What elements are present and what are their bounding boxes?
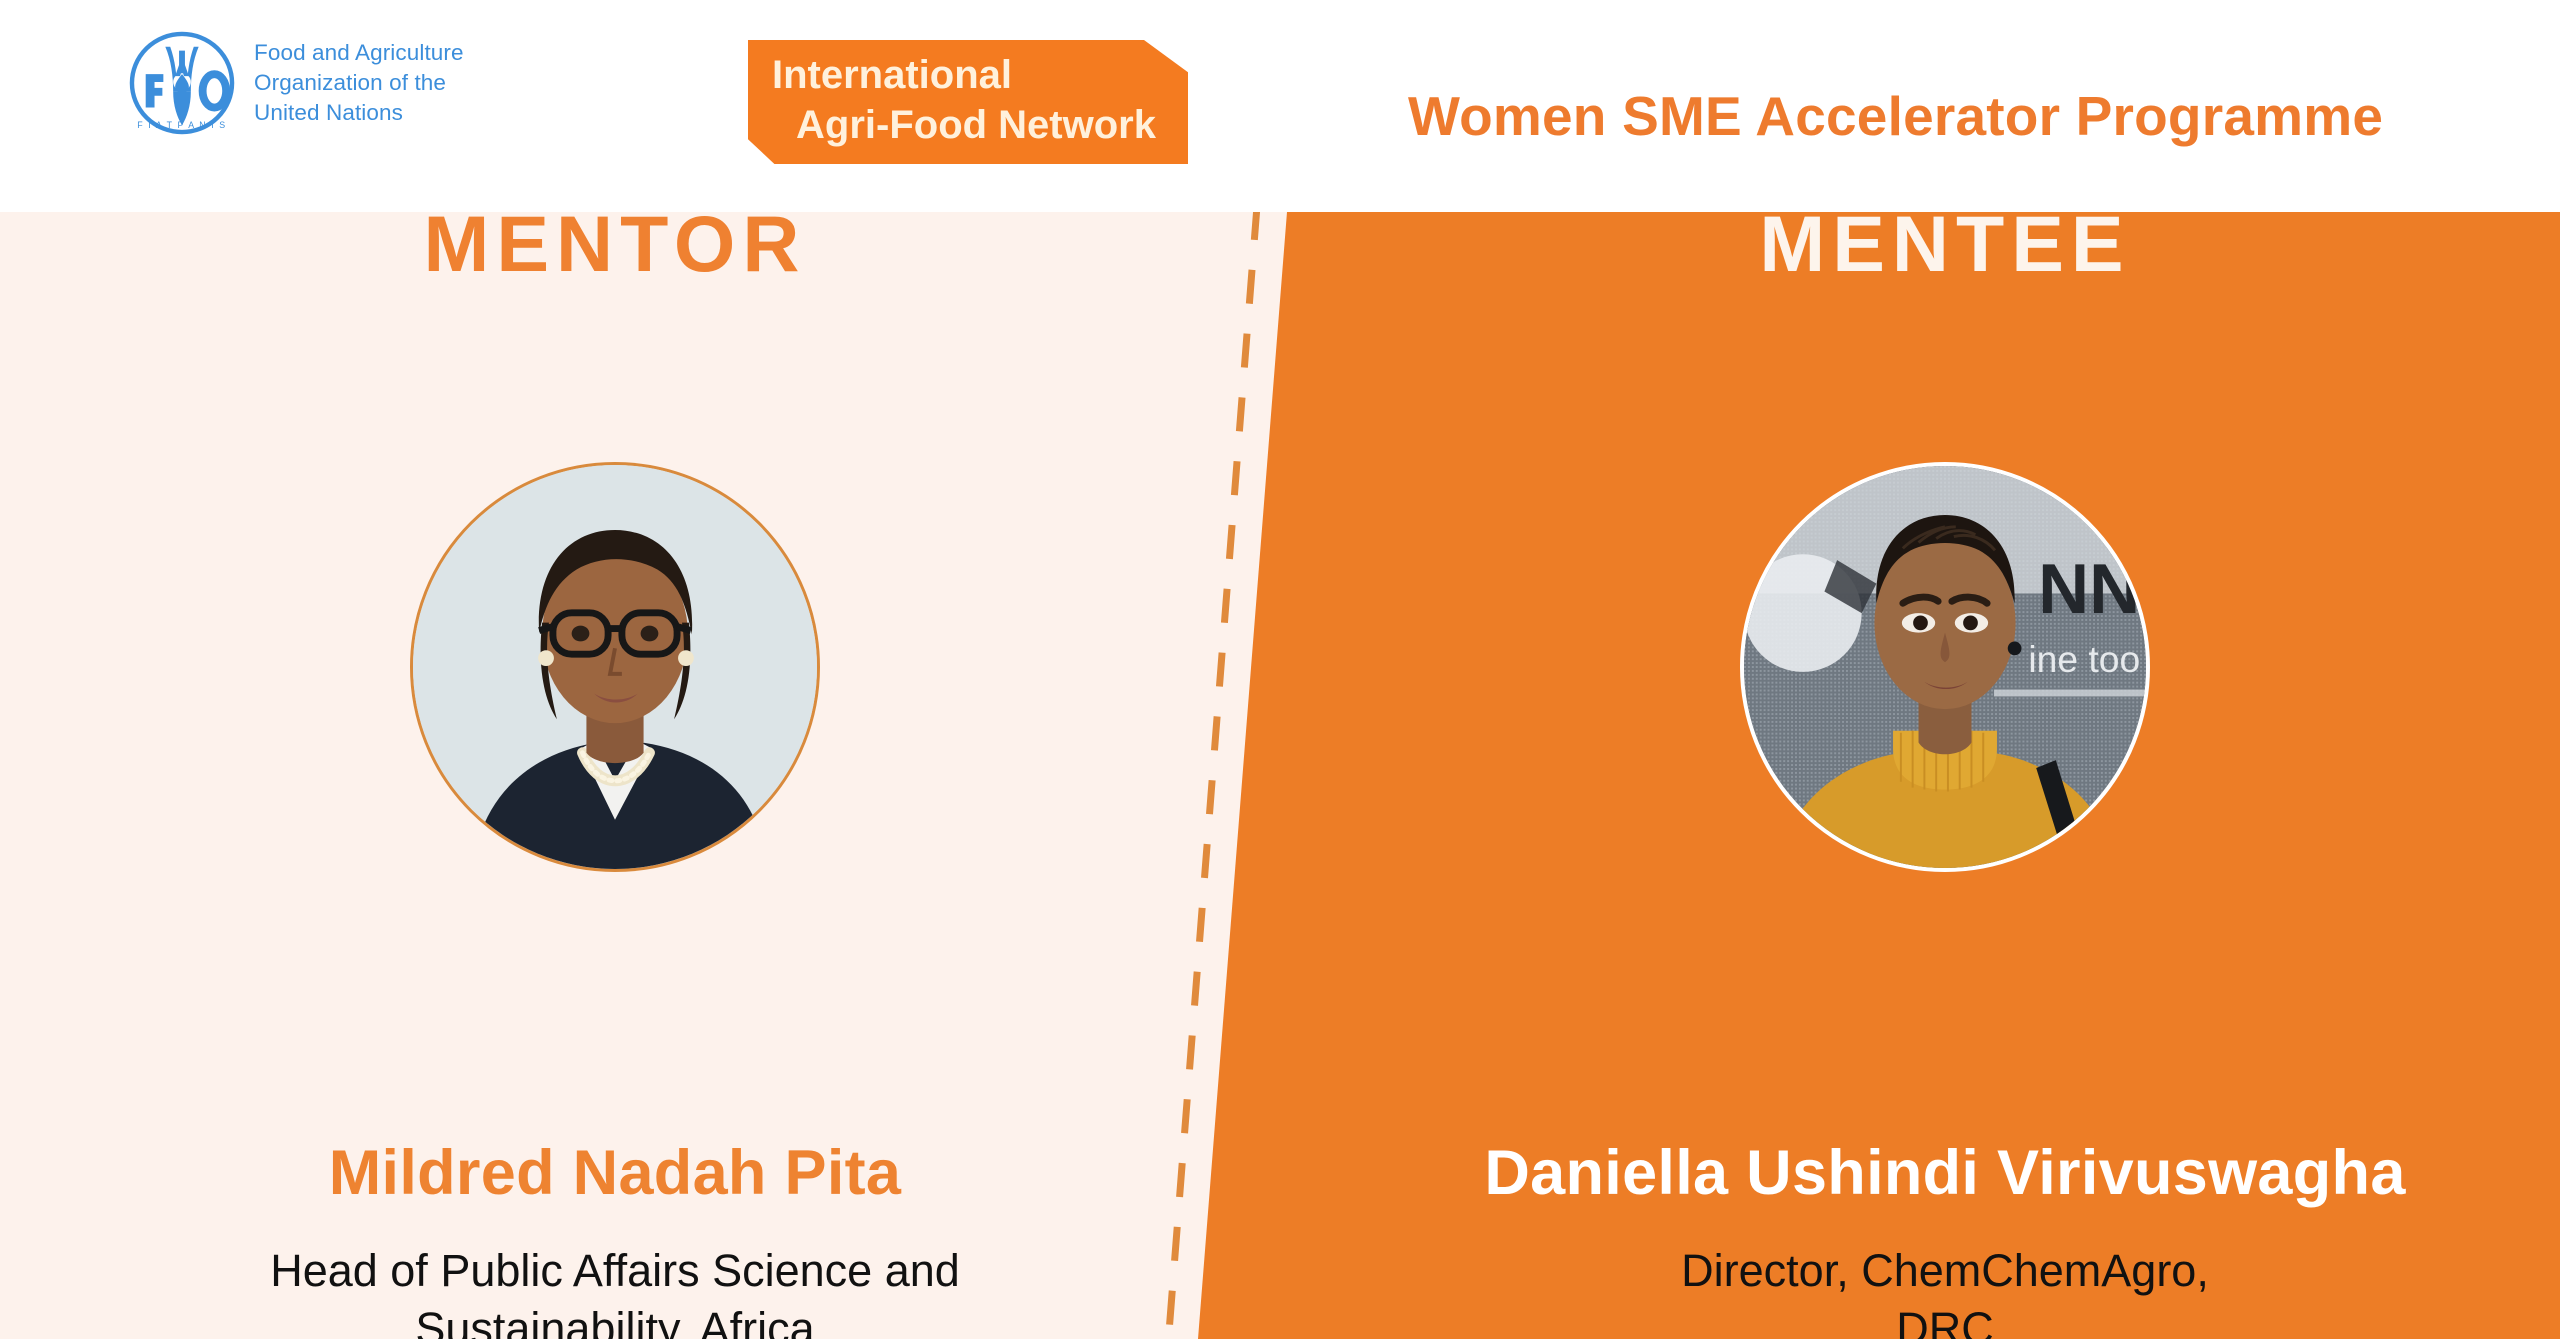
mentor-avatar xyxy=(410,462,820,872)
fao-line-3: United Nations xyxy=(254,98,464,128)
mentor-name: Mildred Nadah Pita xyxy=(0,1137,1230,1209)
content-panels: MENTOR xyxy=(0,212,2560,1339)
mentee-name: Daniella Ushindi Virivuswagha xyxy=(1330,1137,2560,1209)
backdrop-text-nn: NN xyxy=(2038,549,2140,628)
slide-root: F I A T P A N I S Food and Agriculture O… xyxy=(0,0,2560,1339)
mentee-column: MENTEE NN ine too xyxy=(1330,212,2560,1339)
mentor-role-description: Head of Public Affairs Science and Susta… xyxy=(0,1242,1230,1339)
fao-line-2: Organization of the xyxy=(254,68,464,98)
fao-wordmark: Food and Agriculture Organization of the… xyxy=(254,38,464,127)
mentee-role-description: Director, ChemChemAgro, DRC xyxy=(1330,1242,2560,1339)
fao-line-1: Food and Agriculture xyxy=(254,38,464,68)
fao-motto: F I A T P A N I S xyxy=(137,120,227,130)
mentor-role-line-2: Sustainability, Africa xyxy=(0,1300,1230,1339)
iafn-logo: International Agri-Food Network xyxy=(748,40,1188,164)
mentor-portrait-image xyxy=(413,465,817,869)
backdrop-text-inetoo: ine too xyxy=(2028,638,2140,680)
mentee-avatar: NN ine too xyxy=(1740,462,2150,872)
header-bar: F I A T P A N I S Food and Agriculture O… xyxy=(0,0,2560,212)
programme-title: Women SME Accelerator Programme xyxy=(1408,84,2508,148)
iafn-line-2: Agri-Food Network xyxy=(772,100,1172,150)
fao-logo: F I A T P A N I S Food and Agriculture O… xyxy=(128,28,548,138)
mentee-portrait-image: NN ine too xyxy=(1744,466,2146,868)
mentee-role-line-1: Director, ChemChemAgro, xyxy=(1330,1242,2560,1300)
iafn-line-1: International xyxy=(772,50,1172,100)
mentor-role-line-1: Head of Public Affairs Science and xyxy=(0,1242,1230,1300)
mentee-role-line-2: DRC xyxy=(1330,1300,2560,1339)
fao-emblem-icon: F I A T P A N I S xyxy=(128,31,236,135)
mentor-column: MENTOR xyxy=(0,212,1230,1339)
iafn-wordmark: International Agri-Food Network xyxy=(772,50,1172,151)
